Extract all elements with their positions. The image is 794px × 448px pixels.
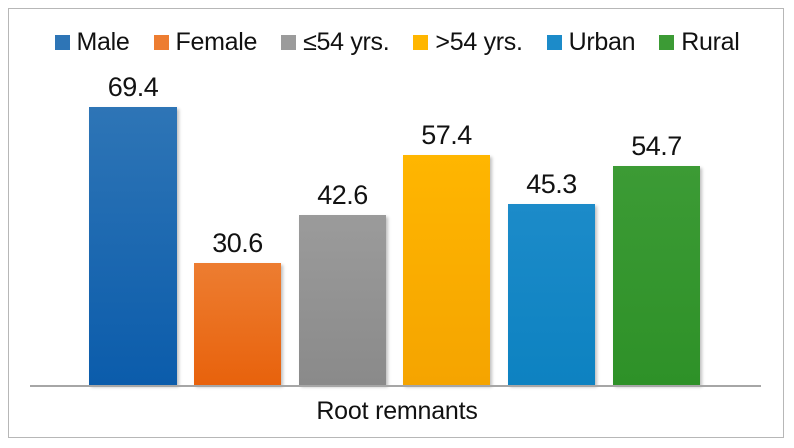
bar-group-male: 69.4	[89, 107, 177, 385]
bar-group-le54: 42.6	[299, 215, 386, 385]
chart-container: Male Female ≤54 yrs. >54 yrs. Urban Rura…	[0, 0, 794, 448]
bar-gt54[interactable]	[403, 155, 490, 385]
plot-area: 69.4 30.6 42.6 57.4 45.3 54.7	[0, 0, 794, 448]
bar-value-rural: 54.7	[613, 133, 700, 160]
bar-le54[interactable]	[299, 215, 386, 385]
bar-group-urban: 45.3	[508, 204, 595, 385]
bar-value-urban: 45.3	[508, 171, 595, 198]
bar-rural[interactable]	[613, 166, 700, 385]
bar-male[interactable]	[89, 107, 177, 385]
bar-value-gt54: 57.4	[403, 122, 490, 149]
bar-group-rural: 54.7	[613, 166, 700, 385]
bar-value-female: 30.6	[194, 230, 281, 257]
x-axis-line	[30, 385, 761, 387]
bar-group-gt54: 57.4	[403, 155, 490, 385]
bar-value-male: 69.4	[89, 74, 177, 101]
bar-value-le54: 42.6	[299, 182, 386, 209]
bar-female[interactable]	[194, 263, 281, 385]
x-axis-title: Root remnants	[0, 398, 794, 426]
bar-urban[interactable]	[508, 204, 595, 385]
bar-group-female: 30.6	[194, 263, 281, 385]
